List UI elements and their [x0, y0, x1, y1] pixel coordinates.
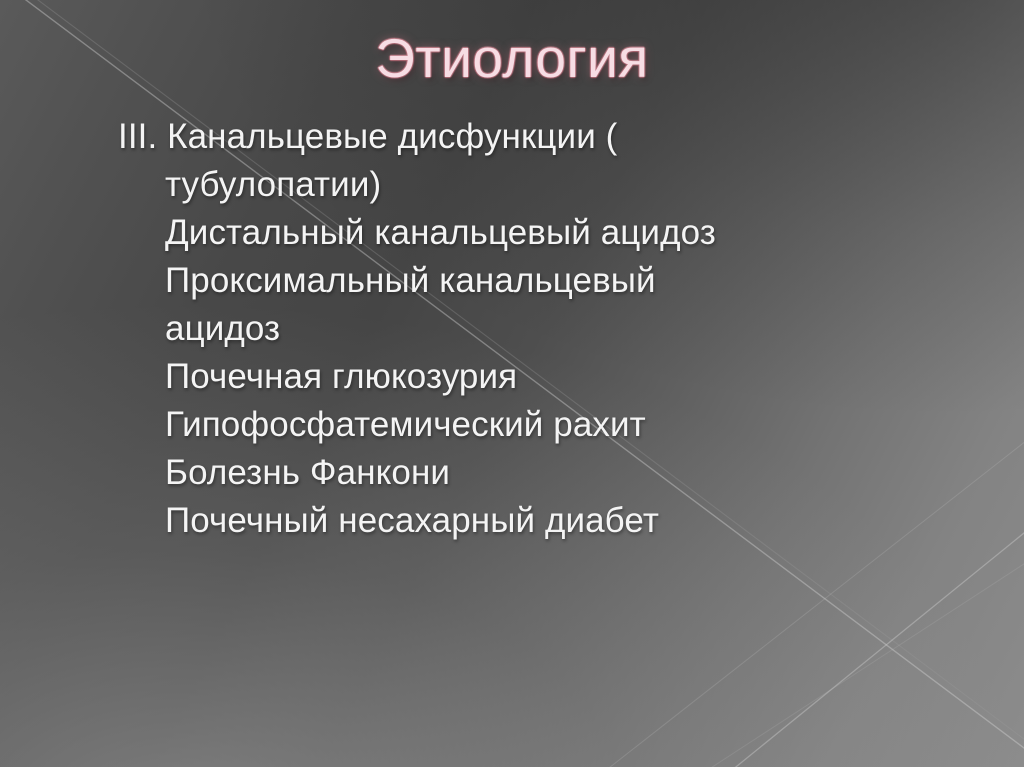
body-line: Почечная глюкозурия: [118, 353, 908, 401]
body-line: Проксимальный канальцевый: [118, 257, 908, 305]
body-line: тубулопатии): [118, 161, 908, 209]
body-line: Гипофосфатемический рахит: [118, 401, 908, 449]
presentation-slide: Этиология III. Канальцевые дисфункции ( …: [0, 0, 1024, 767]
slide-body: III. Канальцевые дисфункции ( тубулопати…: [118, 113, 908, 545]
body-line: Почечный несахарный диабет: [118, 497, 908, 545]
body-line: Дистальный канальцевый ацидоз: [118, 209, 908, 257]
slide-title: Этиология: [0, 26, 1024, 90]
body-line: III. Канальцевые дисфункции (: [118, 113, 908, 161]
body-line: Болезнь Фанкони: [118, 449, 908, 497]
body-line: ацидоз: [118, 305, 908, 353]
